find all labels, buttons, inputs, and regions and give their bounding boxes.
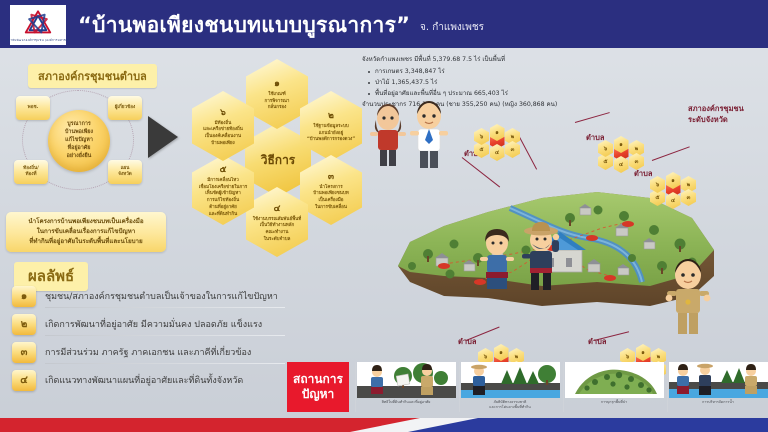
result-item-3: ๓ การมีส่วนร่วม ภาครัฐ ภาคเอกชน และภาคีท… xyxy=(12,340,284,364)
situation-photo-1-caption: สิทธิในที่ดินทำกินและที่อยู่อาศัย xyxy=(357,400,455,405)
stats-bullet-list: การเกษตร 3,348,847 ไร่ ป่าไม้ 1,365,437.… xyxy=(368,67,606,100)
result-item-2: ๒ เกิดการพัฒนาที่อยู่อาศัย มีความมั่นคง … xyxy=(12,312,284,336)
wheel-node-provincial-plan[interactable]: แผนจังหวัด xyxy=(108,160,142,184)
situation-photo-1[interactable]: สิทธิในที่ดินทำกินและที่อยู่อาศัย xyxy=(355,362,456,412)
result-item-4-num: ๔ xyxy=(12,370,36,391)
situation-photo-3[interactable]: การบุกรุกพื้นที่ป่า xyxy=(563,362,664,412)
situation-title-line1: สถานการ xyxy=(293,372,343,387)
wheel-core-label: บูรณาการบ้านพอเพียงแก้ไขปัญหาที่อยู่อาศั… xyxy=(61,121,97,160)
logo-box: สถาบันพัฒนาองค์กรชุมชน (องค์การมหาชน) xyxy=(10,5,66,45)
wheel-core: บูรณาการบ้านพอเพียงแก้ไขปัญหาที่อยู่อาศั… xyxy=(48,110,110,172)
logo-caption: สถาบันพัฒนาองค์กรชุมชน (องค์การมหาชน) xyxy=(6,38,71,42)
method-hex-5[interactable]: ๕ มีการเคลื่อนไหวเชื่อมโยงเครือข่ายในการ… xyxy=(192,155,254,225)
situation-title-line2: ปัญหา xyxy=(302,387,335,402)
callout-tambon-5: ตำบล xyxy=(588,336,606,348)
situation-photo-4-caption: การบริหารจัดการน้ำ xyxy=(669,400,767,405)
situation-photo-2[interactable]: ภัยพิบัติทางธรรมชาติและการโค่นถางพื้นที่… xyxy=(459,362,560,412)
character-officer-khaki xyxy=(665,258,711,338)
flower-petal-1-3: ๓ xyxy=(505,141,520,158)
stats-intro: จังหวัดกำแพงเพชร มีพื้นที่ 5,379.68 7.5 … xyxy=(362,55,606,66)
result-item-2-num: ๒ xyxy=(12,314,36,335)
callout-tambon-4: ตำบล xyxy=(458,336,476,348)
character-official-white xyxy=(408,100,450,172)
result-item-3-num: ๓ xyxy=(12,342,36,363)
summary-callout: นำโครงการบ้านพอเพียงชนบทเป็นเครื่องมือใน… xyxy=(6,212,166,252)
villagers-with-document-art xyxy=(357,362,456,398)
flower-petal-2-6: ๖ xyxy=(598,140,613,157)
method-hex-3-text: นำโครงการบ้านพอเพียงชนบทเป็นเครื่องมือใน… xyxy=(313,185,348,212)
method-hex-4[interactable]: ๔ ใช้งานบรรณสัมพันธ์พื้นที่เป็นวิธีทำงาน… xyxy=(246,187,308,257)
result-divider-1 xyxy=(45,307,285,308)
method-hex-1-text: ใช้เกณฑ์การพิจารณากลั่นกรอง xyxy=(265,92,290,112)
tambon-flower-cluster-3[interactable]: ๑ ๒ ๓ ๔ ๕ ๖ xyxy=(650,172,696,206)
method-hex-1[interactable]: ๑ ใช้เกณฑ์การพิจารณากลั่นกรอง xyxy=(246,59,308,129)
infographic-canvas: สถาบันพัฒนาองค์กรชุมชน (องค์การมหาชน) “บ… xyxy=(0,0,768,432)
result-item-1-num: ๑ xyxy=(12,286,36,307)
method-hex-4-num: ๔ xyxy=(274,201,281,215)
character-villager-red xyxy=(368,104,408,170)
wheel-node-local[interactable]: ท้องถิ่น/ท้องที่ xyxy=(14,160,48,184)
method-hex-6-text: มีท้องถิ่นและเครือข่ายท้องถิ่นเป็นองค์เค… xyxy=(203,121,243,148)
codi-knot-logo-icon xyxy=(21,8,55,38)
situation-photo-2-caption: ภัยพิบัติทางธรรมชาติและการโค่นถางพื้นที่… xyxy=(461,400,559,411)
method-hex-5-text: มีการเคลื่อนไหวเชื่อมโยงเครือข่ายในการเห… xyxy=(199,178,247,219)
result-item-1-text: ชุมชน/สภาองค์กรชุมชนตำบลเป็นเจ้าของในการ… xyxy=(45,289,278,303)
wheel-node-stakeholders[interactable]: ผู้เกี่ยวข้อง xyxy=(108,96,142,120)
result-divider-3 xyxy=(45,363,285,364)
method-hex-6-num: ๖ xyxy=(220,105,226,119)
result-item-2-text: เกิดการพัฒนาที่อยู่อาศัย มีความมั่นคง ปล… xyxy=(45,317,262,331)
callout-province-council: สภาองค์กรชุมชนระดับจังหวัด xyxy=(688,104,744,126)
result-divider-2 xyxy=(45,335,285,336)
page-header: สถาบันพัฒนาองค์กรชุมชน (องค์การมหาชน) “บ… xyxy=(0,0,768,48)
situation-title: สถานการ ปัญหา xyxy=(287,362,349,412)
method-hex-5-num: ๕ xyxy=(220,162,227,176)
method-hex-3-num: ๓ xyxy=(328,169,334,183)
council-wheel-diagram: บูรณาการบ้านพอเพียงแก้ไขปัญหาที่อยู่อาศั… xyxy=(4,84,152,196)
character-man-with-hat xyxy=(520,218,562,294)
method-hex-2-num: ๒ xyxy=(328,108,334,122)
tambon-flower-cluster-1[interactable]: ๑ ๒ ๓ ๔ ๕ ๖ xyxy=(474,124,520,158)
result-item-1: ๑ ชุมชน/สภาองค์กรชุมชนตำบลเป็นเจ้าของในก… xyxy=(12,284,284,308)
flower-petal-2-3: ๓ xyxy=(629,153,644,170)
forest-hill-art xyxy=(565,362,664,398)
method-hex-4-text: ใช้งานบรรณสัมพันธ์พื้นที่เป็นวิธีทำงานหล… xyxy=(253,217,301,244)
result-item-3-text: การมีส่วนร่วม ภาครัฐ ภาคเอกชน และภาคีที่… xyxy=(45,345,251,359)
method-hex-1-num: ๑ xyxy=(274,76,280,90)
flower-petal-3-3: ๓ xyxy=(681,189,696,206)
stats-bullet-residential: พื้นที่อยู่อาศัยและพื้นที่อื่น ๆ ประมาณ … xyxy=(368,89,606,100)
stats-bullet-forest: ป่าไม้ 1,365,437.5 ไร่ xyxy=(368,78,606,89)
flower-petal-1-6: ๖ xyxy=(474,128,489,145)
page-subtitle: จ. กำแพงเพชร xyxy=(420,20,484,35)
triangle-right-icon xyxy=(148,116,178,158)
situation-photo-strip: สถานการ ปัญหา xyxy=(287,362,768,418)
method-hex-2-text: ใช้ฐานข้อมูลระบบแกนนำยังอยู่“บ้านพอดีการ… xyxy=(307,124,355,144)
result-item-4-text: เกิดแนวทางพัฒนาแผนที่อยู่อาศัยและที่ดินท… xyxy=(45,373,243,387)
leader-line-tambon-2 xyxy=(575,112,610,123)
result-item-4: ๔ เกิดแนวทางพัฒนาแผนที่อยู่อาศัยและที่ดิ… xyxy=(12,368,284,392)
method-hex-6[interactable]: ๖ มีท้องถิ่นและเครือข่ายท้องถิ่นเป็นองค์… xyxy=(192,91,254,161)
flooded-forest-art xyxy=(461,362,560,398)
situation-photo-3-caption: การบุกรุกพื้นที่ป่า xyxy=(565,400,663,405)
province-map-illustration: สภาองค์กรชุมชนระดับจังหวัด ตำบล ตำบล ตำบ… xyxy=(370,100,768,362)
character-woman-villager xyxy=(478,228,516,294)
situation-photo-4[interactable]: การบริหารจัดการน้ำ xyxy=(667,362,768,412)
water-management-art xyxy=(669,362,768,398)
method-hexagon-diagram: วิธีการ ๑ ใช้เกณฑ์การพิจารณากลั่นกรอง ๒ … xyxy=(190,55,365,267)
page-title: “บ้านพอเพียงชนบทแบบบูรณาการ” xyxy=(78,9,410,42)
flower-petal-3-6: ๖ xyxy=(650,176,665,193)
stats-bullet-agriculture: การเกษตร 3,348,847 ไร่ xyxy=(368,67,606,78)
tambon-flower-cluster-2[interactable]: ๑ ๒ ๓ ๔ ๕ ๖ xyxy=(598,136,644,170)
wheel-node-pocho[interactable]: พอช. xyxy=(16,96,50,120)
